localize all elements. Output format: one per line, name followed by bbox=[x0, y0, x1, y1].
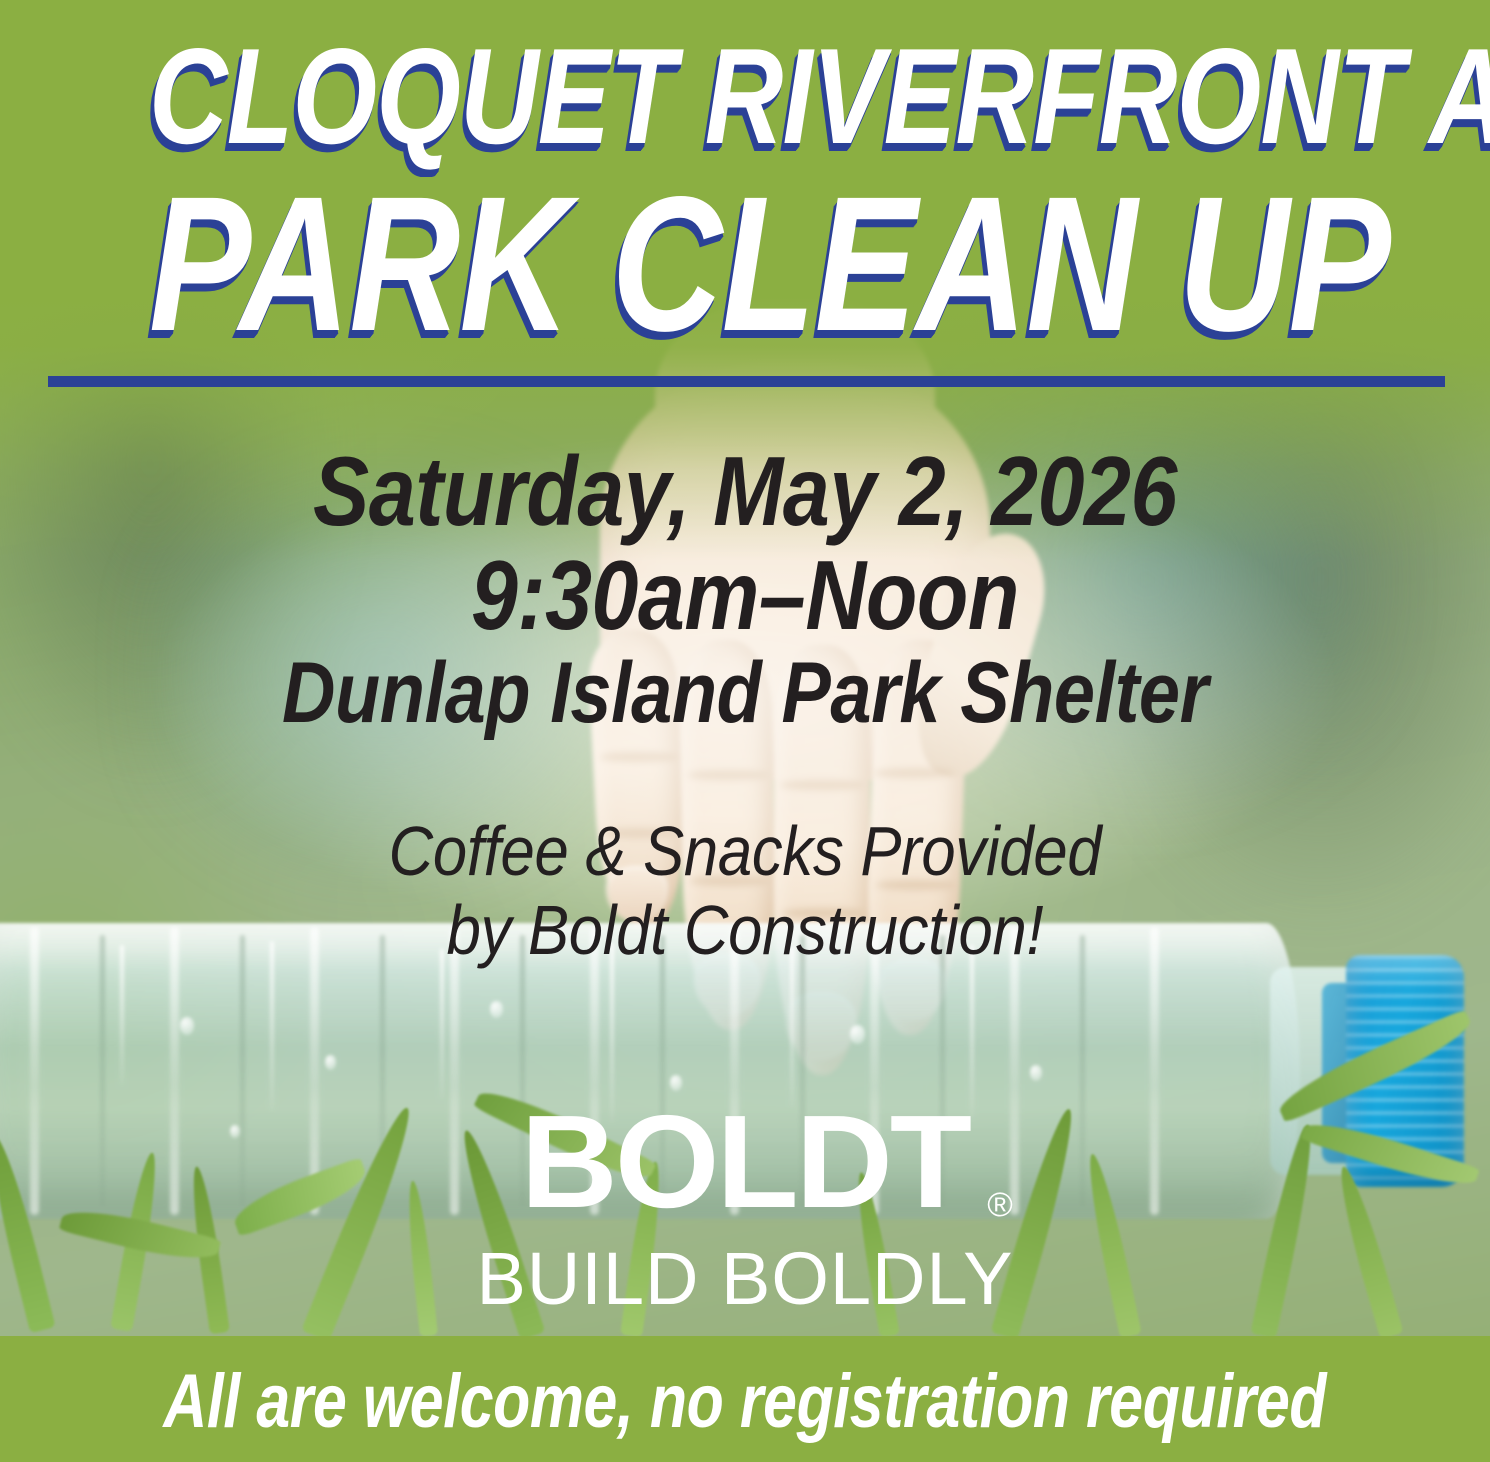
blue-divider-rule bbox=[48, 376, 1445, 387]
event-details-block: Saturday, May 2, 2026 9:30am–Noon Dunlap… bbox=[0, 440, 1490, 739]
sponsor-note-line-1: Coffee & Snacks Provided bbox=[89, 812, 1400, 891]
sponsor-note-block: Coffee & Snacks Provided by Boldt Constr… bbox=[0, 812, 1490, 970]
boldt-logo: BOLDT ® BUILD BOLDLY bbox=[0, 1096, 1490, 1316]
footer-note-text: All are welcome, no registration require… bbox=[164, 1364, 1327, 1440]
registered-trademark-icon: ® bbox=[987, 1188, 1010, 1222]
headline-line-1: CLOQUET RIVERFRONT AREA bbox=[149, 28, 1341, 164]
event-venue: Dunlap Island Park Shelter bbox=[104, 648, 1385, 739]
footer-note: All are welcome, no registration require… bbox=[0, 1364, 1490, 1440]
headline-line-2: PARK CLEAN UP bbox=[149, 168, 1341, 360]
event-date: Saturday, May 2, 2026 bbox=[104, 440, 1385, 544]
boldt-wordmark: BOLDT ® bbox=[521, 1096, 969, 1228]
park-cleanup-flyer: CLOQUET RIVERFRONT AREA PARK CLEAN UP Sa… bbox=[0, 0, 1490, 1462]
boldt-wordmark-text: BOLDT bbox=[521, 1088, 969, 1235]
event-time: 9:30am–Noon bbox=[104, 544, 1385, 648]
boldt-tagline: BUILD BOLDLY bbox=[0, 1242, 1490, 1316]
sponsor-note-line-2: by Boldt Construction! bbox=[89, 891, 1400, 970]
